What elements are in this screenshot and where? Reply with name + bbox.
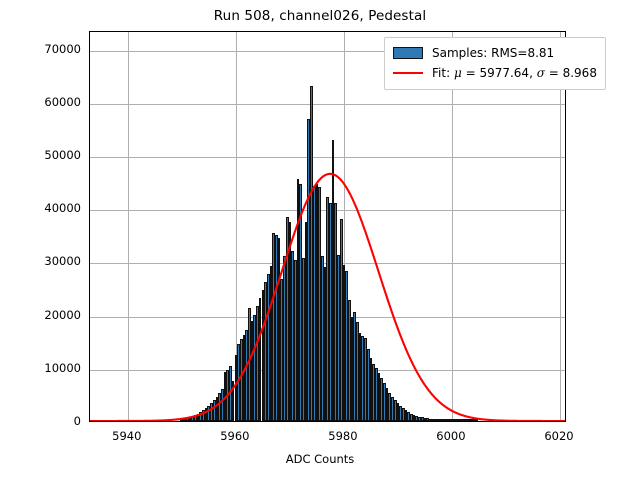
legend-label-samples: Samples: RMS=8.81	[432, 46, 554, 60]
histogram-bar	[475, 419, 478, 421]
y-tick-label: 40000	[44, 201, 81, 215]
gridline-vertical	[560, 32, 561, 421]
page-title: Run 508, channel026, Pedestal	[0, 8, 640, 24]
gridline-horizontal	[90, 104, 565, 105]
gridline-vertical	[452, 32, 453, 421]
x-tick-label: 5980	[303, 429, 383, 443]
gridline-horizontal	[90, 157, 565, 158]
x-tick-mark	[236, 421, 237, 422]
x-axis-label: ADC Counts	[0, 452, 640, 466]
legend-label-fit: Fit: μ = 5977.64, σ = 8.968	[432, 66, 597, 80]
y-tick-mark	[89, 51, 90, 52]
y-tick-mark	[89, 104, 90, 105]
x-tick-label: 6000	[411, 429, 491, 443]
legend-fit-sigma-value: 8.968	[563, 66, 597, 80]
legend-line-icon	[393, 72, 423, 74]
legend-fit-mu-eq: =	[462, 66, 480, 80]
y-tick-mark	[89, 317, 90, 318]
y-tick-mark	[89, 157, 90, 158]
y-tick-label: 70000	[44, 42, 81, 56]
legend-fit-sigma-eq: =	[545, 66, 563, 80]
chart-legend: Samples: RMS=8.81 Fit: μ = 5977.64, σ = …	[384, 37, 606, 90]
legend-entry-samples: Samples: RMS=8.81	[393, 43, 597, 63]
x-tick-label: 6020	[519, 429, 599, 443]
x-tick-mark	[344, 421, 345, 422]
x-tick-label: 5960	[195, 429, 275, 443]
gridline-vertical	[128, 32, 129, 421]
y-tick-mark	[89, 210, 90, 211]
y-tick-label: 50000	[44, 148, 81, 162]
y-tick-label: 10000	[44, 361, 81, 375]
legend-fit-mu-symbol: μ	[454, 66, 462, 80]
x-tick-mark	[560, 421, 561, 422]
legend-fit-prefix: Fit:	[432, 66, 454, 80]
legend-fit-sigma-symbol: σ	[537, 66, 545, 80]
legend-entry-fit: Fit: μ = 5977.64, σ = 8.968	[393, 63, 597, 83]
legend-fit-separator: ,	[529, 66, 537, 80]
figure-canvas: Run 508, channel026, Pedestal 0100002000…	[0, 0, 640, 480]
y-tick-mark	[89, 263, 90, 264]
y-axis-label: Entries	[0, 176, 3, 216]
x-tick-mark	[452, 421, 453, 422]
y-tick-label: 60000	[44, 95, 81, 109]
y-tick-label: 0	[74, 414, 81, 428]
y-tick-mark	[89, 370, 90, 371]
y-tick-label: 20000	[44, 308, 81, 322]
legend-patch-icon	[393, 47, 423, 59]
y-tick-label: 30000	[44, 254, 81, 268]
x-tick-label: 5940	[87, 429, 167, 443]
legend-fit-mu-value: 5977.64	[479, 66, 529, 80]
x-tick-mark	[128, 421, 129, 422]
